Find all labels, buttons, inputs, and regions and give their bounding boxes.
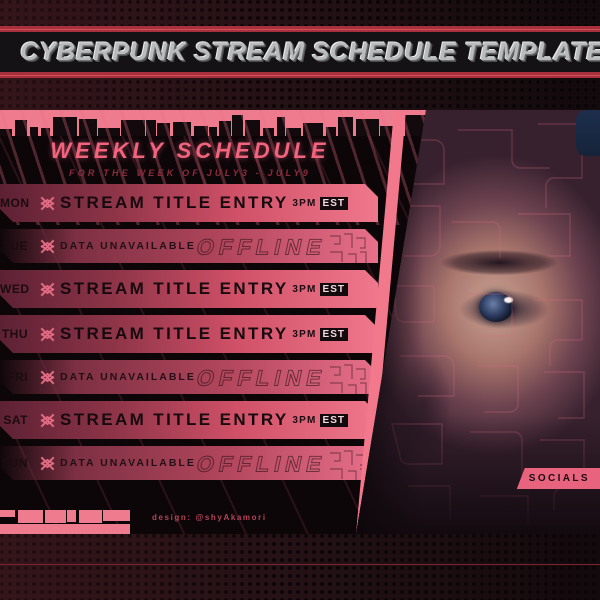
bottom-halftone-gradient [0, 534, 600, 600]
skyline-building [53, 117, 77, 136]
skyline-building [219, 121, 231, 136]
row-time-group: 3PMEST [292, 283, 348, 296]
skyline-building [277, 117, 285, 136]
x-cross-icon [34, 195, 60, 212]
row-day-label: FRI [0, 370, 34, 384]
schedule-row-thu[interactable]: THUSTREAM TITLE ENTRY3PMEST [0, 315, 378, 353]
schedule-row-fri[interactable]: FRIDATA UNAVAILABLEOFFLINE [0, 360, 378, 394]
row-time-group: 3PMEST [292, 414, 348, 427]
bottom-halftone-background [0, 534, 600, 600]
skyline-building [326, 127, 336, 136]
row-day-label: SUN [0, 456, 34, 470]
skyline-building [245, 120, 260, 136]
skyline-building [157, 123, 170, 136]
row-time-group: 3PMEST [292, 328, 348, 341]
banner-stripe-bottom [0, 72, 600, 78]
row-timezone-badge: EST [320, 197, 348, 210]
banner-inner: CYBERPUNK STREAM SCHEDULE TEMPLATE [0, 32, 600, 72]
skyline-building [79, 119, 97, 136]
template-canvas: CYBERPUNK STREAM SCHEDULE TEMPLATE WEEKL… [0, 0, 600, 600]
skyline-building [121, 120, 145, 136]
skyline-building [18, 510, 43, 523]
skyline-building [146, 120, 156, 136]
skyline-building [103, 510, 130, 521]
x-cross-icon [34, 455, 60, 472]
schedule-row-sat[interactable]: SATSTREAM TITLE ENTRY3PMEST [0, 401, 378, 439]
designer-credit: design: @shyAkamori [152, 513, 267, 522]
skyline-building [30, 127, 38, 136]
schedule-row-list: MONSTREAM TITLE ENTRY3PMESTTUEDATA UNAVA… [0, 184, 378, 487]
title-banner: CYBERPUNK STREAM SCHEDULE TEMPLATE [0, 26, 600, 78]
row-timezone-badge: EST [320, 414, 348, 427]
x-cross-icon [34, 281, 60, 298]
row-day-label: TUE [0, 239, 34, 253]
x-cross-icon [34, 412, 60, 429]
bottom-accent-line [0, 564, 600, 565]
row-title: STREAM TITLE ENTRY [60, 193, 292, 213]
skyline-building [405, 115, 425, 136]
schedule-heading: WEEKLY SCHEDULE [0, 138, 380, 164]
skyline-building [79, 510, 102, 523]
page-title: CYBERPUNK STREAM SCHEDULE TEMPLATE [20, 38, 600, 67]
skyline-building [286, 128, 301, 136]
navy-corner-chip [576, 110, 600, 156]
row-day-label: SAT [0, 413, 34, 427]
schedule-header: WEEKLY SCHEDULE FOR THE WEEK OF JULY3 - … [0, 138, 380, 178]
row-title: DATA UNAVAILABLE [60, 371, 378, 383]
row-title: DATA UNAVAILABLE [60, 457, 378, 469]
skyline-building [98, 128, 120, 136]
skyline-building [194, 126, 208, 136]
x-cross-icon [34, 369, 60, 386]
row-time: 3PM [292, 329, 316, 340]
skyline-building [209, 127, 217, 136]
skyline-building [15, 120, 27, 136]
row-day-label: MON [0, 196, 34, 210]
x-cross-icon [34, 326, 60, 343]
skyline-building [0, 510, 15, 517]
socials-badge[interactable]: SOCIALS [517, 468, 600, 489]
schedule-row-sun[interactable]: SUNDATA UNAVAILABLEOFFLINE [0, 446, 378, 480]
row-time: 3PM [292, 415, 316, 426]
row-timezone-badge: EST [320, 328, 348, 341]
skyline-building [303, 123, 323, 136]
row-title: STREAM TITLE ENTRY [60, 410, 292, 430]
row-day-label: WED [0, 282, 34, 296]
x-cross-icon [34, 238, 60, 255]
skyline-building [232, 115, 243, 136]
schedule-row-mon[interactable]: MONSTREAM TITLE ENTRY3PMEST [0, 184, 378, 222]
schedule-week-range: FOR THE WEEK OF JULY3 - JULY9 [0, 168, 380, 178]
row-title: STREAM TITLE ENTRY [60, 324, 292, 344]
row-time-group: 3PMEST [292, 197, 348, 210]
skyline-building [173, 122, 191, 136]
row-day-label: THU [0, 327, 34, 341]
skyline-building [45, 510, 66, 523]
row-timezone-badge: EST [320, 283, 348, 296]
main-panel: WEEKLY SCHEDULE FOR THE WEEK OF JULY3 - … [0, 110, 600, 534]
bottom-skyline-base [0, 524, 130, 534]
schedule-row-wed[interactable]: WEDSTREAM TITLE ENTRY3PMEST [0, 270, 378, 308]
row-title: DATA UNAVAILABLE [60, 240, 378, 252]
skyline-building [0, 129, 12, 136]
skyline-building [67, 510, 76, 522]
skyline-building [263, 128, 274, 136]
bottom-skyline [0, 510, 130, 534]
skyline-building [338, 117, 353, 136]
skyline-building [356, 119, 379, 136]
row-time: 3PM [292, 198, 316, 209]
schedule-row-tue[interactable]: TUEDATA UNAVAILABLEOFFLINE [0, 229, 378, 263]
row-time: 3PM [292, 284, 316, 295]
row-title: STREAM TITLE ENTRY [60, 279, 292, 299]
skyline-building [41, 128, 50, 136]
